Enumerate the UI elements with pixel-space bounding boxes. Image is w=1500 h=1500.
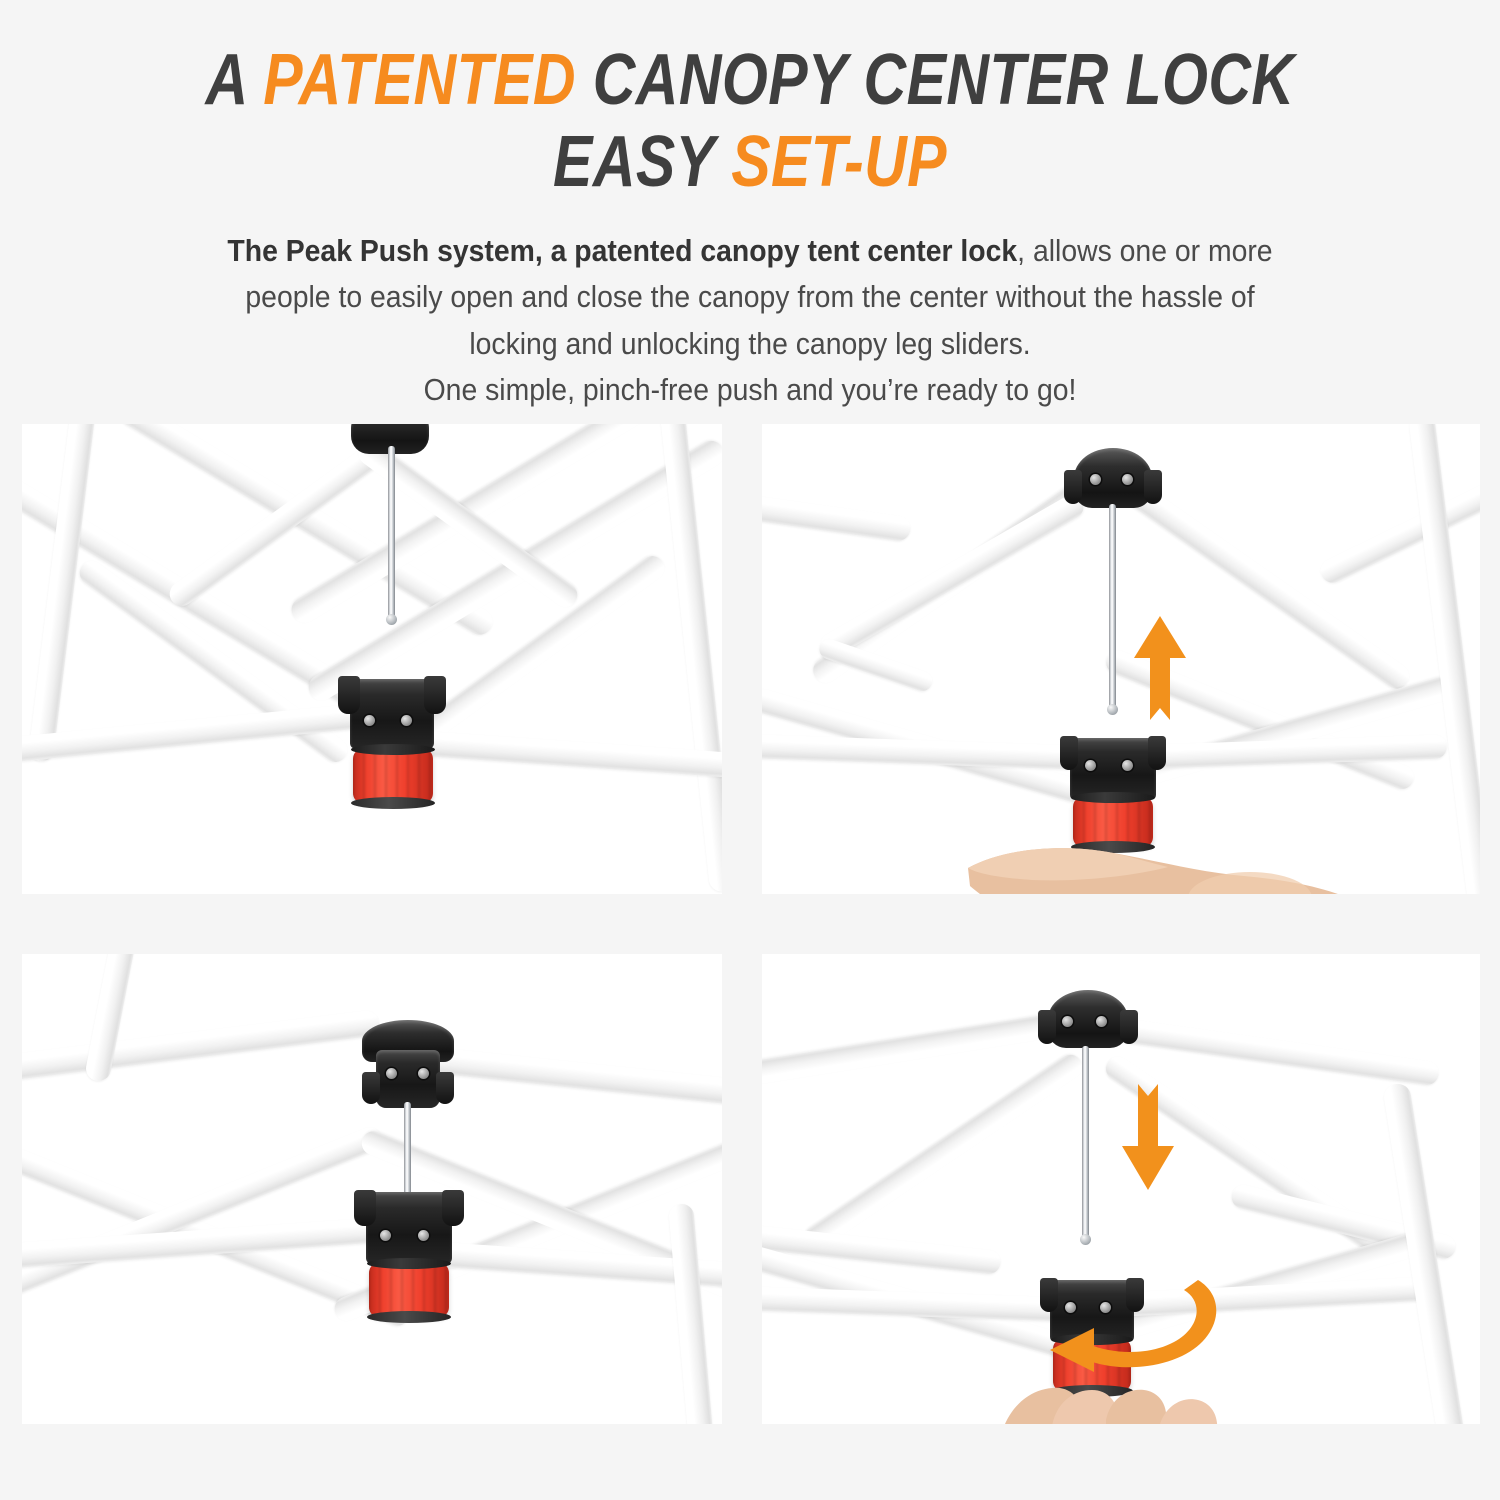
peak-ear-right bbox=[1120, 1010, 1138, 1044]
hub-screw bbox=[1122, 760, 1133, 771]
title-word-a: A bbox=[206, 40, 264, 120]
title-line-2: EASY SET-UP bbox=[135, 126, 1365, 198]
subtitle-line-3: locking and unlocking the canopy leg sli… bbox=[136, 321, 1364, 367]
hub-ear-left bbox=[1060, 736, 1078, 770]
arrow-up-icon bbox=[1132, 616, 1188, 732]
peak-cap-hub bbox=[1048, 990, 1128, 1048]
header: A PATENTED CANOPY CENTER LOCK EASY SET-U… bbox=[0, 0, 1500, 413]
frame-tube bbox=[668, 1203, 716, 1424]
hub-ear-right bbox=[1148, 736, 1166, 770]
panel-1-stage bbox=[22, 424, 722, 894]
peak-ear-right bbox=[436, 1072, 454, 1104]
hub-screw bbox=[401, 715, 412, 726]
frame-tube bbox=[421, 731, 722, 779]
center-lock-hub bbox=[366, 1192, 452, 1264]
peak-ear-left bbox=[1038, 1010, 1056, 1044]
panel-2-push-up bbox=[762, 424, 1480, 894]
peak-ear-right bbox=[1144, 470, 1162, 504]
panel-row-bottom bbox=[22, 954, 1480, 1424]
subtitle-line-2: people to easily open and close the cano… bbox=[136, 274, 1364, 320]
rod-tip bbox=[386, 614, 397, 625]
hub-screw bbox=[1096, 1016, 1107, 1027]
peak-ear-left bbox=[362, 1072, 380, 1104]
subtitle-bold-lead: The Peak Push system, a patented canopy … bbox=[227, 234, 1017, 268]
peak-cap-body bbox=[376, 1050, 440, 1108]
frame-tube bbox=[762, 494, 912, 542]
peak-ear-left bbox=[1064, 470, 1082, 504]
pinching-hand bbox=[994, 1364, 1294, 1424]
hub-ear-right bbox=[442, 1190, 464, 1226]
center-lock-hub bbox=[350, 679, 434, 749]
red-lock-collar[interactable] bbox=[353, 750, 433, 802]
rod-tip bbox=[1107, 704, 1118, 715]
title-word-patented: PATENTED bbox=[263, 40, 576, 120]
hub-screw bbox=[418, 1230, 429, 1241]
center-push-rod bbox=[388, 446, 395, 618]
rod-tip bbox=[1080, 1234, 1091, 1245]
frame-tube bbox=[1317, 473, 1480, 587]
center-push-rod bbox=[1109, 504, 1116, 708]
subtitle-line-4: One simple, pinch-free push and you’re r… bbox=[136, 367, 1364, 413]
subtitle-line-1-rest: , allows one or more bbox=[1017, 234, 1272, 268]
subtitle-line-1: The Peak Push system, a patented canopy … bbox=[136, 228, 1364, 274]
hub-ear-left bbox=[338, 676, 360, 714]
center-push-rod bbox=[404, 1102, 411, 1200]
center-push-rod bbox=[1082, 1046, 1089, 1238]
panel-4-twist-release bbox=[762, 954, 1480, 1424]
panel-row-top bbox=[22, 424, 1480, 894]
hub-screw bbox=[1085, 760, 1096, 771]
hub-screw bbox=[1062, 1016, 1073, 1027]
panel-grid bbox=[22, 424, 1480, 1424]
red-lock-collar[interactable] bbox=[369, 1264, 449, 1316]
panel-3-stage bbox=[22, 954, 722, 1424]
infographic-root: A PATENTED CANOPY CENTER LOCK EASY SET-U… bbox=[0, 0, 1500, 1500]
hub-ear-left bbox=[354, 1190, 376, 1226]
hub-screw bbox=[386, 1068, 397, 1079]
frame-tube bbox=[28, 424, 99, 763]
hub-screw bbox=[364, 715, 375, 726]
panel-4-stage bbox=[762, 954, 1480, 1424]
title-line-1: A PATENTED CANOPY CENTER LOCK bbox=[135, 44, 1365, 116]
panel-1-center-lock-closed bbox=[22, 424, 722, 894]
hub-screw bbox=[1122, 474, 1133, 485]
hub-screw bbox=[380, 1230, 391, 1241]
center-lock-hub bbox=[1070, 738, 1156, 800]
subtitle-paragraph: The Peak Push system, a patented canopy … bbox=[0, 228, 1500, 413]
open-hand bbox=[958, 824, 1378, 894]
panel-2-stage bbox=[762, 424, 1480, 894]
frame-tube bbox=[762, 1012, 1064, 1089]
arrow-down-icon bbox=[1120, 1072, 1176, 1190]
hub-screw bbox=[418, 1068, 429, 1079]
frame-tube bbox=[22, 1009, 381, 1084]
title-word-easy: EASY bbox=[553, 122, 731, 202]
title-word-rest: CANOPY CENTER LOCK bbox=[576, 40, 1295, 120]
hub-ear-right bbox=[424, 676, 446, 714]
frame-tube bbox=[421, 1046, 722, 1109]
frame-tube bbox=[800, 1050, 1087, 1254]
title-word-setup: SET-UP bbox=[731, 122, 947, 202]
page-title: A PATENTED CANOPY CENTER LOCK EASY SET-U… bbox=[0, 0, 1500, 198]
hub-screw bbox=[1090, 474, 1101, 485]
frame-tube bbox=[658, 424, 722, 893]
peak-cap-hub bbox=[1074, 448, 1152, 508]
panel-3-locked-engaged bbox=[22, 954, 722, 1424]
